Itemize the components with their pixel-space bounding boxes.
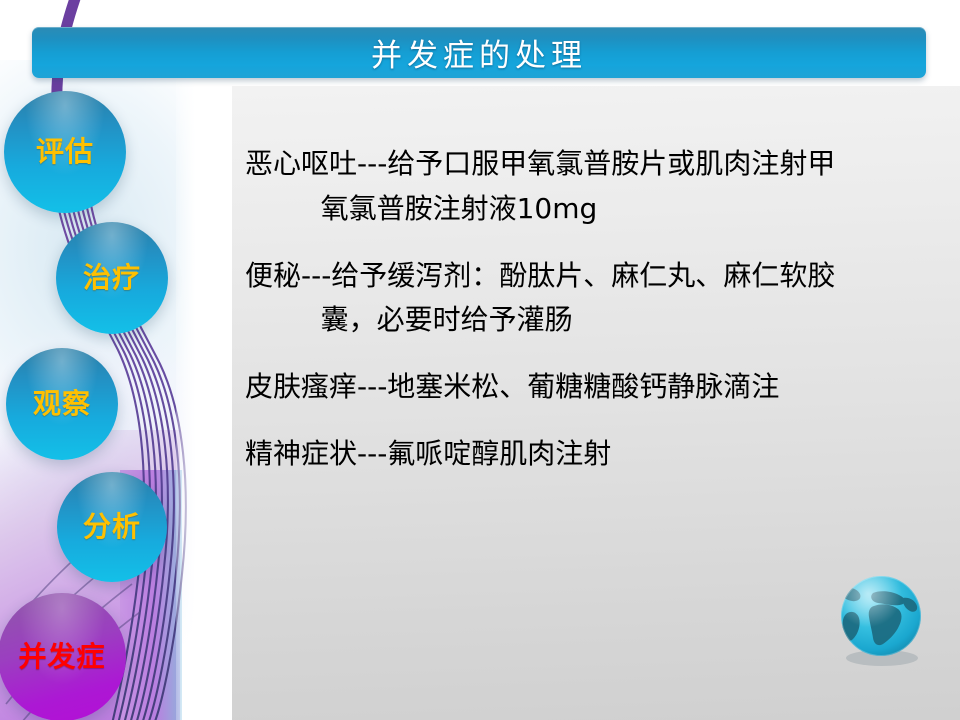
list-item: 便秘---给予缓泻剂：酚肽片、麻仁丸、麻仁软胶 囊，必要时给予灌肠 <box>245 254 945 344</box>
slide-title-bar: 并发症的处理 <box>32 27 926 78</box>
sidebar-item-观察[interactable]: 观察 <box>6 348 118 460</box>
sidebar-decoration: 评估 治疗 观察 分析 并发症 <box>0 0 232 720</box>
sidebar-item-评估[interactable]: 评估 <box>4 91 126 213</box>
page-title: 并发症的处理 <box>371 30 587 75</box>
sidebar-item-label: 观察 <box>33 390 91 418</box>
sidebar-item-label: 评估 <box>36 138 94 166</box>
list-item: 恶心呕吐---给予口服甲氧氯普胺片或肌肉注射甲 氧氯普胺注射液10mg <box>245 142 945 232</box>
sidebar-item-并发症[interactable]: 并发症 <box>0 593 126 720</box>
sidebar-item-分析[interactable]: 分析 <box>57 472 167 582</box>
list-item: 皮肤瘙痒---地塞米松、葡糖糖酸钙静脉滴注 <box>245 365 945 410</box>
presentation-slide: 评估 治疗 观察 分析 并发症 并发症的处理 恶心呕吐---给予口服甲氧氯普胺片… <box>0 0 960 720</box>
sidebar-item-治疗[interactable]: 治疗 <box>56 222 168 334</box>
sidebar-item-label: 分析 <box>83 513 141 541</box>
sidebar-item-label: 治疗 <box>83 264 141 292</box>
sidebar-item-label: 并发症 <box>18 643 105 671</box>
slide-content-panel: 恶心呕吐---给予口服甲氧氯普胺片或肌肉注射甲 氧氯普胺注射液10mg 便秘--… <box>232 86 960 720</box>
column-separator <box>176 78 232 720</box>
bullet-list: 恶心呕吐---给予口服甲氧氯普胺片或肌肉注射甲 氧氯普胺注射液10mg 便秘--… <box>245 142 945 499</box>
globe-icon <box>829 566 933 670</box>
list-item: 精神症状---氟哌啶醇肌肉注射 <box>245 432 945 477</box>
